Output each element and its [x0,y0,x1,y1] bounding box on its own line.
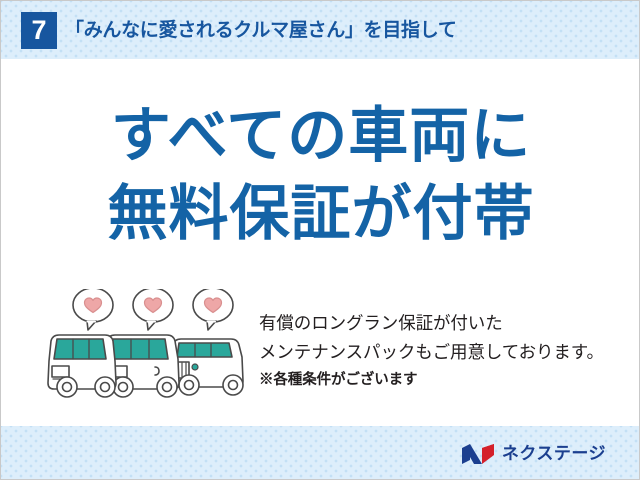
headline: すべての車両に 無料保証が付帯 [1,97,640,253]
car-suv [170,339,243,395]
heart-bubble-2 [133,289,173,330]
brand-wordmark: ネクステージ [502,442,606,466]
section-number-badge: 7 [21,12,57,49]
headline-line-1: すべての車両に [1,97,640,175]
body-copy: 有償のロングラン保証が付いた メンテナンスパックもご用意しております。 ※各種条… [259,309,631,393]
cars-illustration-svg [43,289,258,401]
cars-with-hearts-illustration [43,289,258,401]
car-kei-wagon [48,335,116,397]
brand-logo: ネクステージ [461,442,606,466]
nexstage-n-mark-icon [461,443,495,465]
promo-banner: 7 「みんなに愛されるクルマ屋さん」を目指して すべての車両に 無料保証が付帯 [0,0,640,480]
heart-bubble-3 [193,289,233,330]
body-copy-note: ※各種条件がございます [259,367,631,393]
heart-bubble-1 [73,289,113,330]
header-title: 「みんなに愛されるクルマ屋さん」を目指して [65,14,457,48]
headline-line-2: 無料保証が付帯 [1,175,640,253]
body-copy-line-1: 有償のロングラン保証が付いた [259,309,631,338]
body-copy-line-2: メンテナンスパックもご用意しております。 [259,338,631,367]
